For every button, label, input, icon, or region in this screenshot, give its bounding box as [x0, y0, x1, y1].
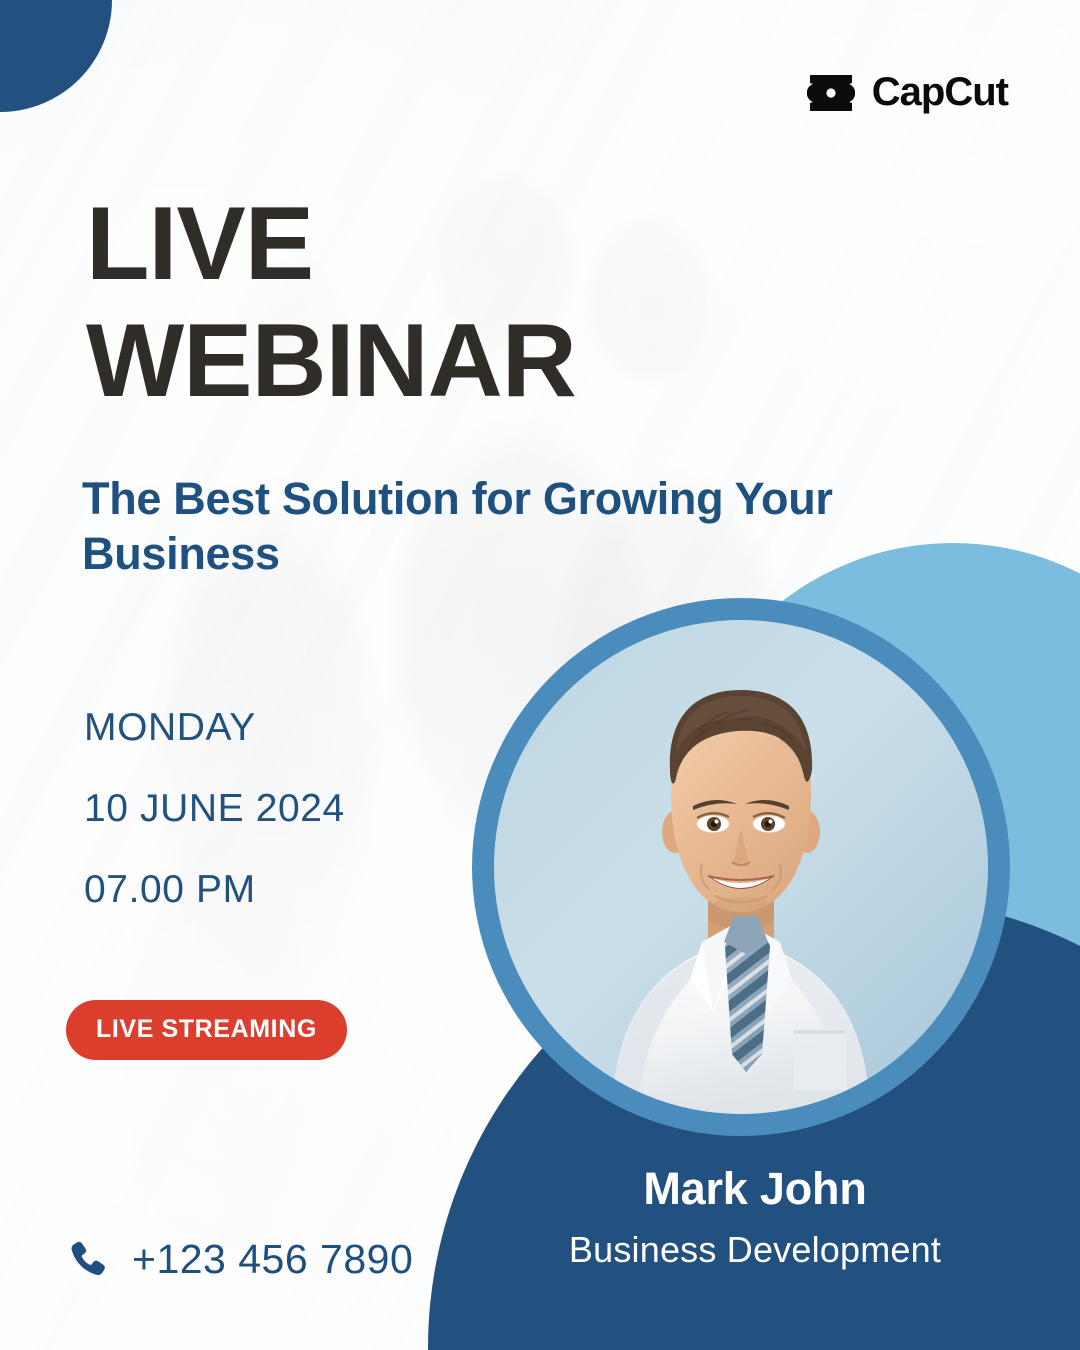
speaker-photo-ring	[472, 598, 1010, 1136]
webinar-poster: CapCut LIVE WEBINAR The Best Solution fo…	[0, 0, 1080, 1350]
page-title: LIVE WEBINAR	[86, 185, 706, 420]
avatar	[494, 620, 988, 1114]
event-time: 07.00 PM	[84, 868, 345, 912]
event-day: MONDAY	[84, 706, 345, 750]
event-date: 10 JUNE 2024	[84, 787, 345, 831]
brand-name: CapCut	[872, 70, 1008, 115]
speaker-info: Mark John Business Development	[430, 1163, 1080, 1271]
phone-icon	[68, 1239, 110, 1281]
phone-number: +123 456 7890	[132, 1236, 413, 1283]
capcut-logo-icon	[807, 71, 855, 115]
speaker-name: Mark John	[430, 1163, 1080, 1215]
live-streaming-badge[interactable]: LIVE STREAMING	[66, 1000, 347, 1060]
subtitle: The Best Solution for Growing Your Busin…	[82, 472, 842, 582]
title-line-1: LIVE	[86, 186, 313, 302]
speaker-role: Business Development	[430, 1229, 1080, 1271]
subtitle-line-1: The Best Solution for Growing	[82, 473, 723, 524]
title-line-2: WEBINAR	[86, 302, 706, 421]
contact-phone[interactable]: +123 456 7890	[68, 1236, 413, 1283]
event-schedule: MONDAY 10 JUNE 2024 07.00 PM	[84, 706, 345, 912]
brand-logo: CapCut	[807, 70, 1008, 115]
